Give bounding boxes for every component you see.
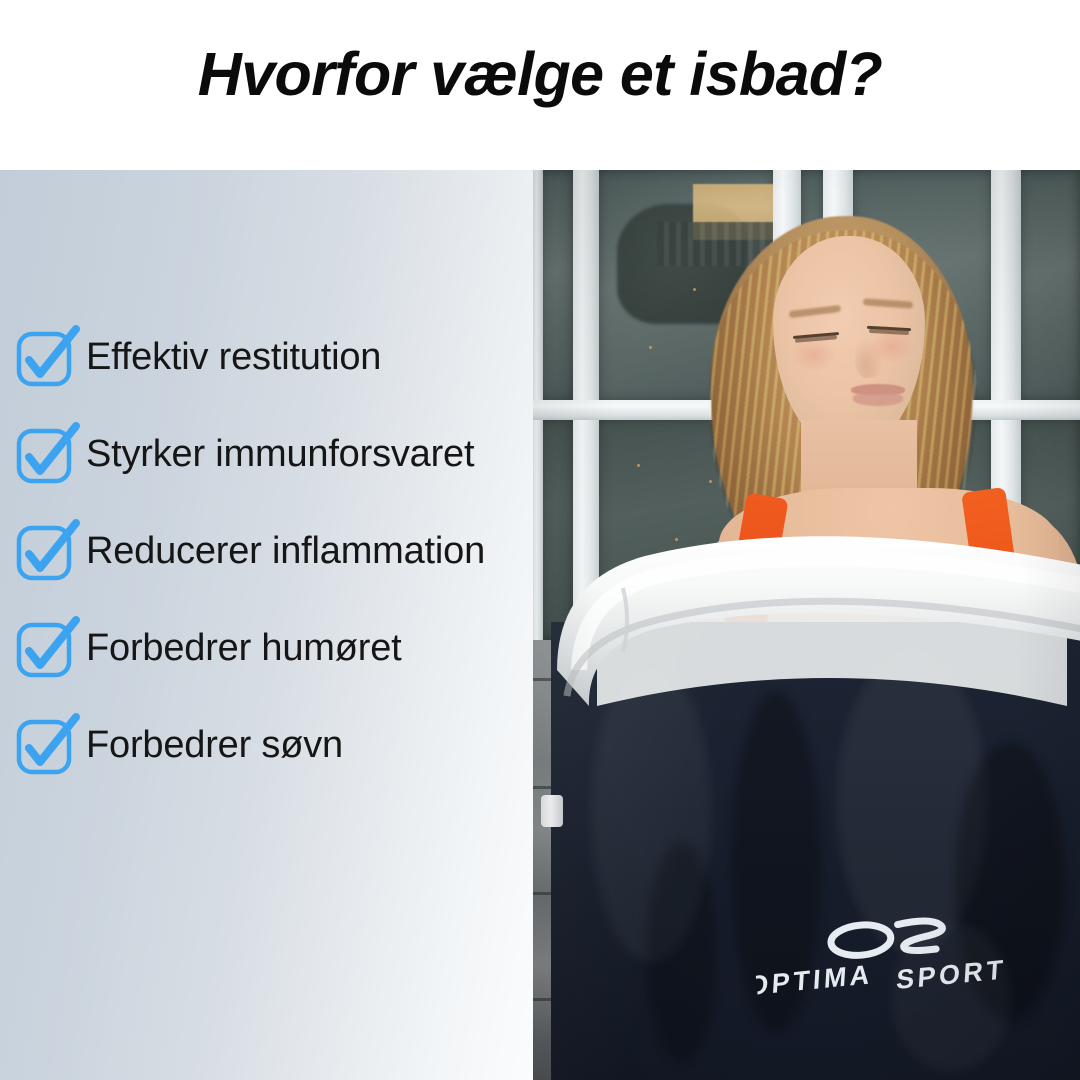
checkbox-checked-icon	[16, 719, 72, 775]
checkbox-checked-icon	[16, 331, 72, 387]
promo-graphic: Hvorfor vælge et isbad? Effektiv restitu…	[0, 0, 1080, 1080]
checkbox-checked-icon	[16, 622, 72, 678]
page-title: Hvorfor vælge et isbad?	[0, 0, 1080, 170]
list-item: Forbedrer humøret	[14, 601, 533, 698]
brand-wordmark: OPTIMA SPORT	[751, 945, 1010, 1009]
checkbox-checked-icon	[16, 525, 72, 581]
os-monogram-icon	[830, 917, 945, 959]
header-band: Hvorfor vælge et isbad?	[0, 0, 1080, 170]
product-photo: OPTIMA SPORT	[533, 170, 1080, 1080]
list-item-label: Styrker immunforsvaret	[86, 435, 474, 476]
list-item-label: Forbedrer humøret	[86, 629, 401, 670]
svg-text:OPTIMA: OPTIMA	[751, 958, 874, 1001]
list-item: Styrker immunforsvaret	[14, 407, 533, 504]
list-item-label: Effektiv restitution	[86, 338, 381, 379]
list-item: Forbedrer søvn	[14, 698, 533, 795]
drain-valve	[541, 795, 563, 827]
list-item-label: Forbedrer søvn	[86, 726, 343, 767]
benefits-list: Effektiv restitution Styrker immunforsva…	[14, 310, 533, 795]
checkbox-checked-icon	[16, 428, 72, 484]
inflatable-rim	[533, 470, 1080, 760]
list-item: Effektiv restitution	[14, 310, 533, 407]
svg-text:SPORT: SPORT	[895, 953, 1007, 995]
list-item: Reducerer inflammation	[14, 504, 533, 601]
list-item-label: Reducerer inflammation	[86, 532, 485, 573]
benefits-panel: Effektiv restitution Styrker immunforsva…	[0, 170, 533, 1080]
